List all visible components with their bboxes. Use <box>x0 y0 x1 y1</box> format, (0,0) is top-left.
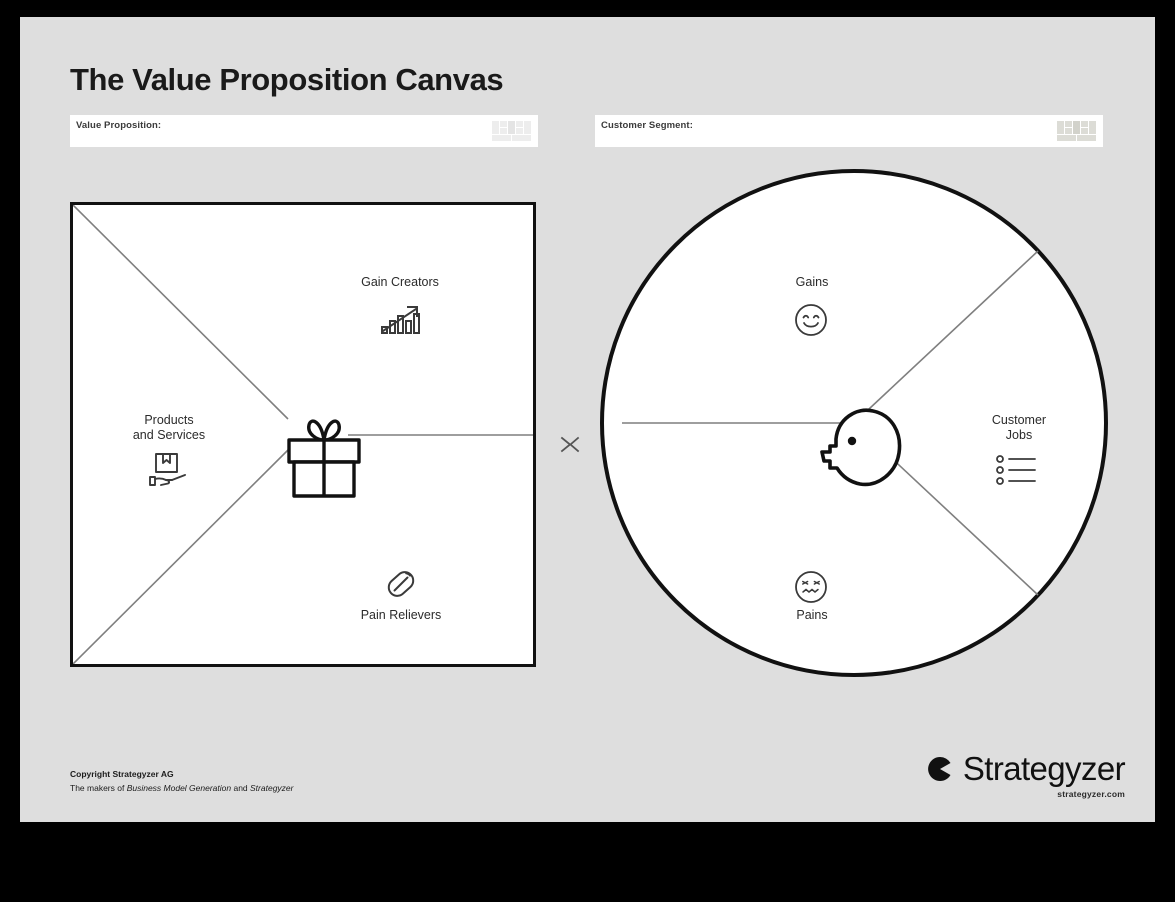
business-model-canvas-grid-icon <box>489 118 534 144</box>
strategyzer-wordmark: Strategyzer <box>963 752 1125 786</box>
customer-segment-field[interactable]: Customer Segment: <box>595 115 1103 147</box>
tagline-book-title: Business Model Generation <box>127 783 231 793</box>
canvas-poster: The Value Proposition Canvas Value Propo… <box>20 17 1155 822</box>
hand-holding-box-icon <box>147 451 191 489</box>
gain-creators-label: Gain Creators <box>330 275 470 290</box>
converging-arrows-icon <box>540 422 600 467</box>
copyright-line: Copyright Strategyzer AG <box>70 767 293 781</box>
tagline-brand: Strategyzer <box>250 783 293 793</box>
strategyzer-circle-mark-icon <box>926 755 954 783</box>
distressed-face-icon <box>793 569 829 605</box>
pains-label: Pains <box>744 608 880 623</box>
smiling-face-icon <box>793 302 829 338</box>
customer-jobs-label: Customer Jobs <box>959 413 1079 443</box>
tagline-prefix: The makers of <box>70 783 127 793</box>
value-proposition-field[interactable]: Value Proposition: <box>70 115 538 147</box>
gains-label: Gains <box>744 275 880 290</box>
pill-capsule-icon <box>382 565 420 603</box>
page-title: The Value Proposition Canvas <box>70 62 503 98</box>
value-proposition-label: Value Proposition: <box>76 120 161 131</box>
checklist-icon <box>995 454 1043 486</box>
growth-bar-chart-arrow-icon <box>378 302 422 338</box>
strategyzer-logo[interactable]: Strategyzer strategyzer.com <box>926 752 1125 799</box>
customer-head-profile-icon <box>800 397 906 507</box>
products-and-services-label: Products and Services <box>108 413 230 443</box>
tagline-middle: and <box>231 783 250 793</box>
business-model-canvas-grid-icon <box>1054 118 1099 144</box>
pain-relievers-label: Pain Relievers <box>331 608 471 623</box>
tagline-line: The makers of Business Model Generation … <box>70 781 293 795</box>
footer-copyright: Copyright Strategyzer AG The makers of B… <box>70 767 293 795</box>
gift-box-icon <box>281 407 367 499</box>
customer-segment-label: Customer Segment: <box>601 120 693 131</box>
strategyzer-url: strategyzer.com <box>926 789 1125 799</box>
